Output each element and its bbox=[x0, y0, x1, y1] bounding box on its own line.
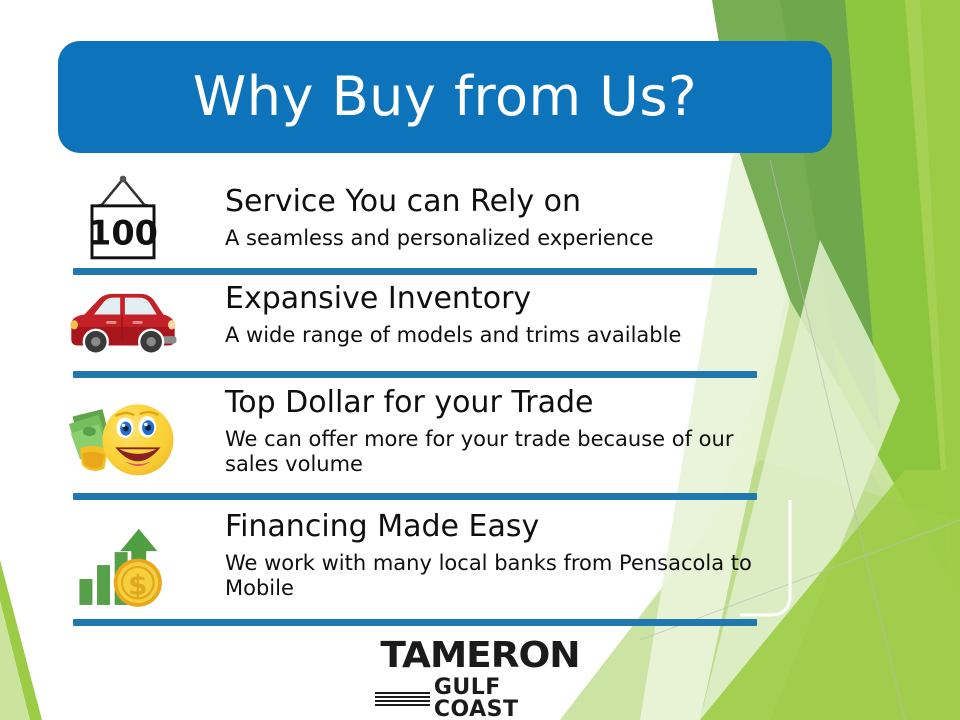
list-item: 100 Service You can Rely on A seamless a… bbox=[0, 168, 790, 268]
green-shape-deep-triangle bbox=[790, 430, 900, 620]
hanging-score-sign-icon: 100 bbox=[58, 172, 188, 264]
list-item: Expansive Inventory A wide range of mode… bbox=[0, 268, 790, 376]
green-shape-far-right bbox=[860, 0, 960, 720]
list-item-subtext: We work with many local banks from Pensa… bbox=[225, 551, 770, 602]
list-item-heading: Financing Made Easy bbox=[225, 498, 770, 545]
list-item: $ Financing Made Easy We work with many … bbox=[0, 498, 790, 624]
sign-score-label: 100 bbox=[88, 213, 158, 252]
benefits-list: 100 Service You can Rely on A seamless a… bbox=[0, 168, 790, 624]
list-item: Top Dollar for your Trade We can offer m… bbox=[0, 376, 790, 498]
list-item-subtext: We can offer more for your trade because… bbox=[225, 427, 770, 478]
tameron-logo: TAMERON GULF COAST bbox=[0, 638, 960, 720]
smiley-with-money-icon bbox=[58, 392, 188, 484]
title-banner: Why Buy from Us? bbox=[58, 41, 832, 153]
svg-text:$: $ bbox=[128, 569, 147, 602]
list-item-subtext: A wide range of models and trims availab… bbox=[225, 323, 770, 349]
slide-canvas: Why Buy from Us? 100 Service You can Rel… bbox=[0, 0, 960, 720]
divider bbox=[73, 619, 757, 626]
logo-brand-name: TAMERON bbox=[371, 638, 589, 674]
logo-region-name: GULF COAST bbox=[434, 677, 585, 720]
page-title: Why Buy from Us? bbox=[193, 70, 697, 124]
logo-bars-icon bbox=[375, 692, 430, 706]
list-item-heading: Expansive Inventory bbox=[225, 268, 770, 317]
red-car-icon bbox=[58, 278, 188, 366]
growth-chart-coin-icon: $ bbox=[58, 520, 188, 612]
list-item-heading: Service You can Rely on bbox=[225, 168, 770, 220]
list-item-heading: Top Dollar for your Trade bbox=[225, 376, 770, 421]
list-item-subtext: A seamless and personalized experience bbox=[225, 226, 770, 252]
hairline-diagonal-upper bbox=[770, 160, 905, 720]
